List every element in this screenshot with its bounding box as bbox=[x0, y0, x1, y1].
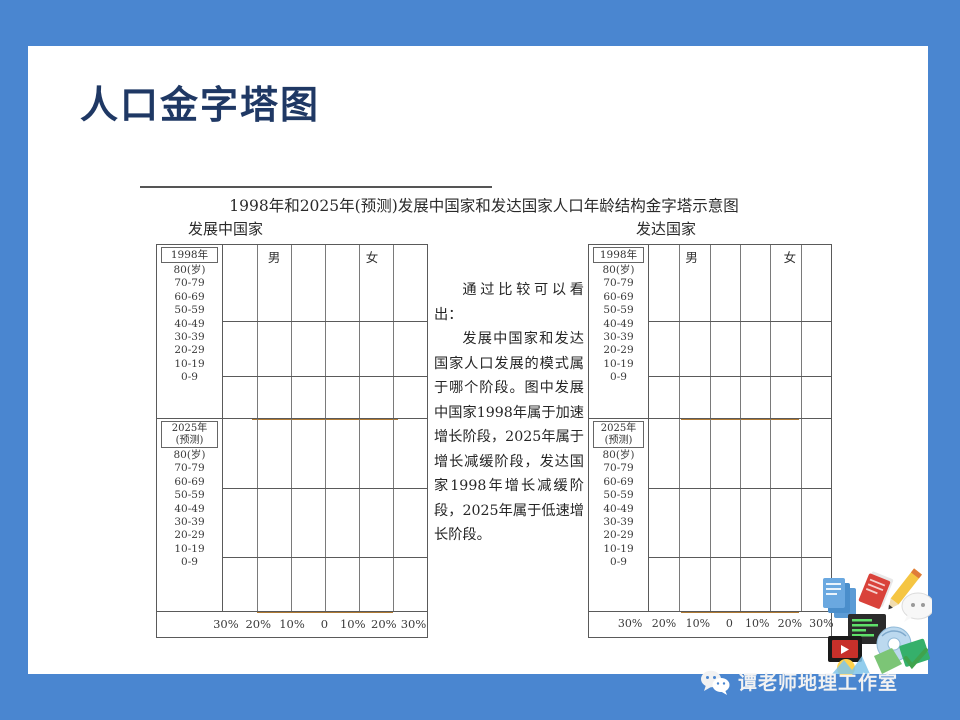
pyramid-plot-developed-2025 bbox=[649, 419, 831, 611]
axis-tick: 10% bbox=[340, 617, 366, 631]
age-label: 50-59 bbox=[157, 489, 222, 502]
age-label: 10-19 bbox=[157, 358, 222, 371]
axis-tick: 30% bbox=[401, 617, 427, 631]
age-label: 80(岁) bbox=[157, 449, 222, 462]
age-label: 80(岁) bbox=[589, 449, 648, 462]
age-label: 60-69 bbox=[157, 291, 222, 304]
male-label: 男 bbox=[268, 247, 281, 266]
axis-tick: 0 bbox=[321, 617, 328, 631]
figure-caption: 1998年和2025年(预测)发展中国家和发达国家人口年龄结构金字塔示意图 bbox=[116, 194, 852, 216]
age-label-column: 2025年 (预测) 80(岁) 70-79 60-69 50-59 40-49… bbox=[589, 419, 649, 611]
male-label: 男 bbox=[685, 247, 698, 266]
axis-tick: 20% bbox=[245, 617, 271, 631]
chart-developed-1998: 1998年 80(岁) 70-79 60-69 50-59 40-49 30-3… bbox=[589, 245, 831, 418]
x-axis-developing: 30% 20% 10% 0 10% 20% 30% bbox=[157, 611, 427, 638]
age-label: 70-79 bbox=[589, 277, 648, 290]
wechat-icon bbox=[700, 669, 730, 695]
chart-developing-2025: 2025年 (预测) 80(岁) 70-79 60-69 50-59 40-49… bbox=[157, 419, 427, 611]
chart-developing-1998: 1998年 80(岁) 70-79 60-69 50-59 40-49 30-3… bbox=[157, 245, 427, 418]
age-label: 20-29 bbox=[157, 529, 222, 542]
age-label: 10-19 bbox=[589, 543, 648, 556]
age-label: 50-59 bbox=[589, 489, 648, 502]
x-axis-developed: 30% 20% 10% 0 10% 20% 30% bbox=[589, 611, 831, 638]
chart-panel-developed: 1998年 80(岁) 70-79 60-69 50-59 40-49 30-3… bbox=[588, 244, 832, 638]
age-label: 0-9 bbox=[157, 371, 222, 384]
age-label: 80(岁) bbox=[157, 264, 222, 277]
pyramid-plot-developed-1998: 男 女 bbox=[649, 245, 831, 418]
age-label: 0-9 bbox=[589, 556, 648, 569]
age-group-list: 80(岁) 70-79 60-69 50-59 40-49 30-39 20-2… bbox=[157, 449, 222, 570]
age-label: 40-49 bbox=[589, 318, 648, 331]
age-label: 70-79 bbox=[589, 462, 648, 475]
age-label: 10-19 bbox=[589, 358, 648, 371]
age-group-list: 80(岁) 70-79 60-69 50-59 40-49 30-39 20-2… bbox=[589, 264, 648, 385]
axis-tick: 20% bbox=[371, 617, 397, 631]
age-label: 10-19 bbox=[157, 543, 222, 556]
age-label: 20-29 bbox=[589, 529, 648, 542]
speech-bubble-icon bbox=[902, 593, 932, 622]
axis-tick: 30% bbox=[618, 617, 642, 630]
age-label: 30-39 bbox=[589, 516, 648, 529]
subtitle-developing: 发展中国家 bbox=[188, 218, 263, 239]
year-badge-1998: 1998年 bbox=[593, 247, 644, 263]
axis-tick: 20% bbox=[652, 617, 676, 630]
axis-tick: 20% bbox=[778, 617, 802, 630]
age-label: 40-49 bbox=[157, 503, 222, 516]
age-group-list: 80(岁) 70-79 60-69 50-59 40-49 30-39 20-2… bbox=[589, 449, 648, 570]
age-label: 0-9 bbox=[589, 371, 648, 384]
age-label: 60-69 bbox=[589, 476, 648, 489]
pyramid-plot-developing-1998: 男 女 bbox=[223, 245, 427, 418]
pyramid-plot-developing-2025 bbox=[223, 419, 427, 611]
slide-canvas: 人口金字塔图 1998年和2025年(预测)发展中国家和发达国家人口年龄结构金字… bbox=[28, 46, 928, 674]
chart-panel-developing: 1998年 80(岁) 70-79 60-69 50-59 40-49 30-3… bbox=[156, 244, 428, 638]
age-label: 50-59 bbox=[589, 304, 648, 317]
age-label: 20-29 bbox=[589, 344, 648, 357]
figure-container: 1998年和2025年(预测)发展中国家和发达国家人口年龄结构金字塔示意图 发展… bbox=[116, 186, 852, 656]
age-label: 70-79 bbox=[157, 277, 222, 290]
page-title: 人口金字塔图 bbox=[80, 74, 320, 129]
watermark-text: 谭老师地理工作室 bbox=[738, 668, 898, 695]
year-badge-2025: 2025年 (预测) bbox=[593, 421, 644, 448]
video-player-icon bbox=[828, 636, 862, 662]
year-badge-2025: 2025年 (预测) bbox=[161, 421, 218, 448]
watermark: 谭老师地理工作室 bbox=[700, 668, 898, 695]
age-label-column: 1998年 80(岁) 70-79 60-69 50-59 40-49 30-3… bbox=[157, 245, 223, 418]
axis-tick: 10% bbox=[279, 617, 305, 631]
female-label: 女 bbox=[366, 247, 379, 266]
note-paragraph-2: 发展中国家和发达国家人口发展的模式属于哪个阶段。图中发展中国家1998年属于加速… bbox=[434, 327, 584, 548]
age-label: 30-39 bbox=[157, 516, 222, 529]
note-paragraph-1: 通过比较可以看出： bbox=[434, 278, 584, 327]
age-label: 70-79 bbox=[157, 462, 222, 475]
age-label: 20-29 bbox=[157, 344, 222, 357]
age-label: 30-39 bbox=[157, 331, 222, 344]
chart-developed-2025: 2025年 (预测) 80(岁) 70-79 60-69 50-59 40-49… bbox=[589, 419, 831, 611]
age-label-column: 2025年 (预测) 80(岁) 70-79 60-69 50-59 40-49… bbox=[157, 419, 223, 611]
age-label: 60-69 bbox=[589, 291, 648, 304]
female-label: 女 bbox=[784, 247, 797, 266]
age-label: 40-49 bbox=[589, 503, 648, 516]
book-icon bbox=[858, 570, 894, 610]
caption-rule bbox=[140, 186, 492, 188]
axis-tick: 10% bbox=[686, 617, 710, 630]
age-label: 50-59 bbox=[157, 304, 222, 317]
subtitle-developed: 发达国家 bbox=[636, 218, 696, 239]
age-label: 40-49 bbox=[157, 318, 222, 331]
year-badge-1998: 1998年 bbox=[161, 247, 218, 263]
age-label: 0-9 bbox=[157, 556, 222, 569]
age-label: 30-39 bbox=[589, 331, 648, 344]
documents-icon bbox=[823, 578, 856, 618]
age-label: 60-69 bbox=[157, 476, 222, 489]
axis-tick: 0 bbox=[726, 617, 733, 630]
age-label: 80(岁) bbox=[589, 264, 648, 277]
age-label-column: 1998年 80(岁) 70-79 60-69 50-59 40-49 30-3… bbox=[589, 245, 649, 418]
axis-tick: 30% bbox=[213, 617, 239, 631]
axis-tick: 10% bbox=[745, 617, 769, 630]
explanatory-note: 通过比较可以看出： 发展中国家和发达国家人口发展的模式属于哪个阶段。图中发展中国… bbox=[434, 278, 584, 548]
age-group-list: 80(岁) 70-79 60-69 50-59 40-49 30-39 20-2… bbox=[157, 264, 222, 385]
